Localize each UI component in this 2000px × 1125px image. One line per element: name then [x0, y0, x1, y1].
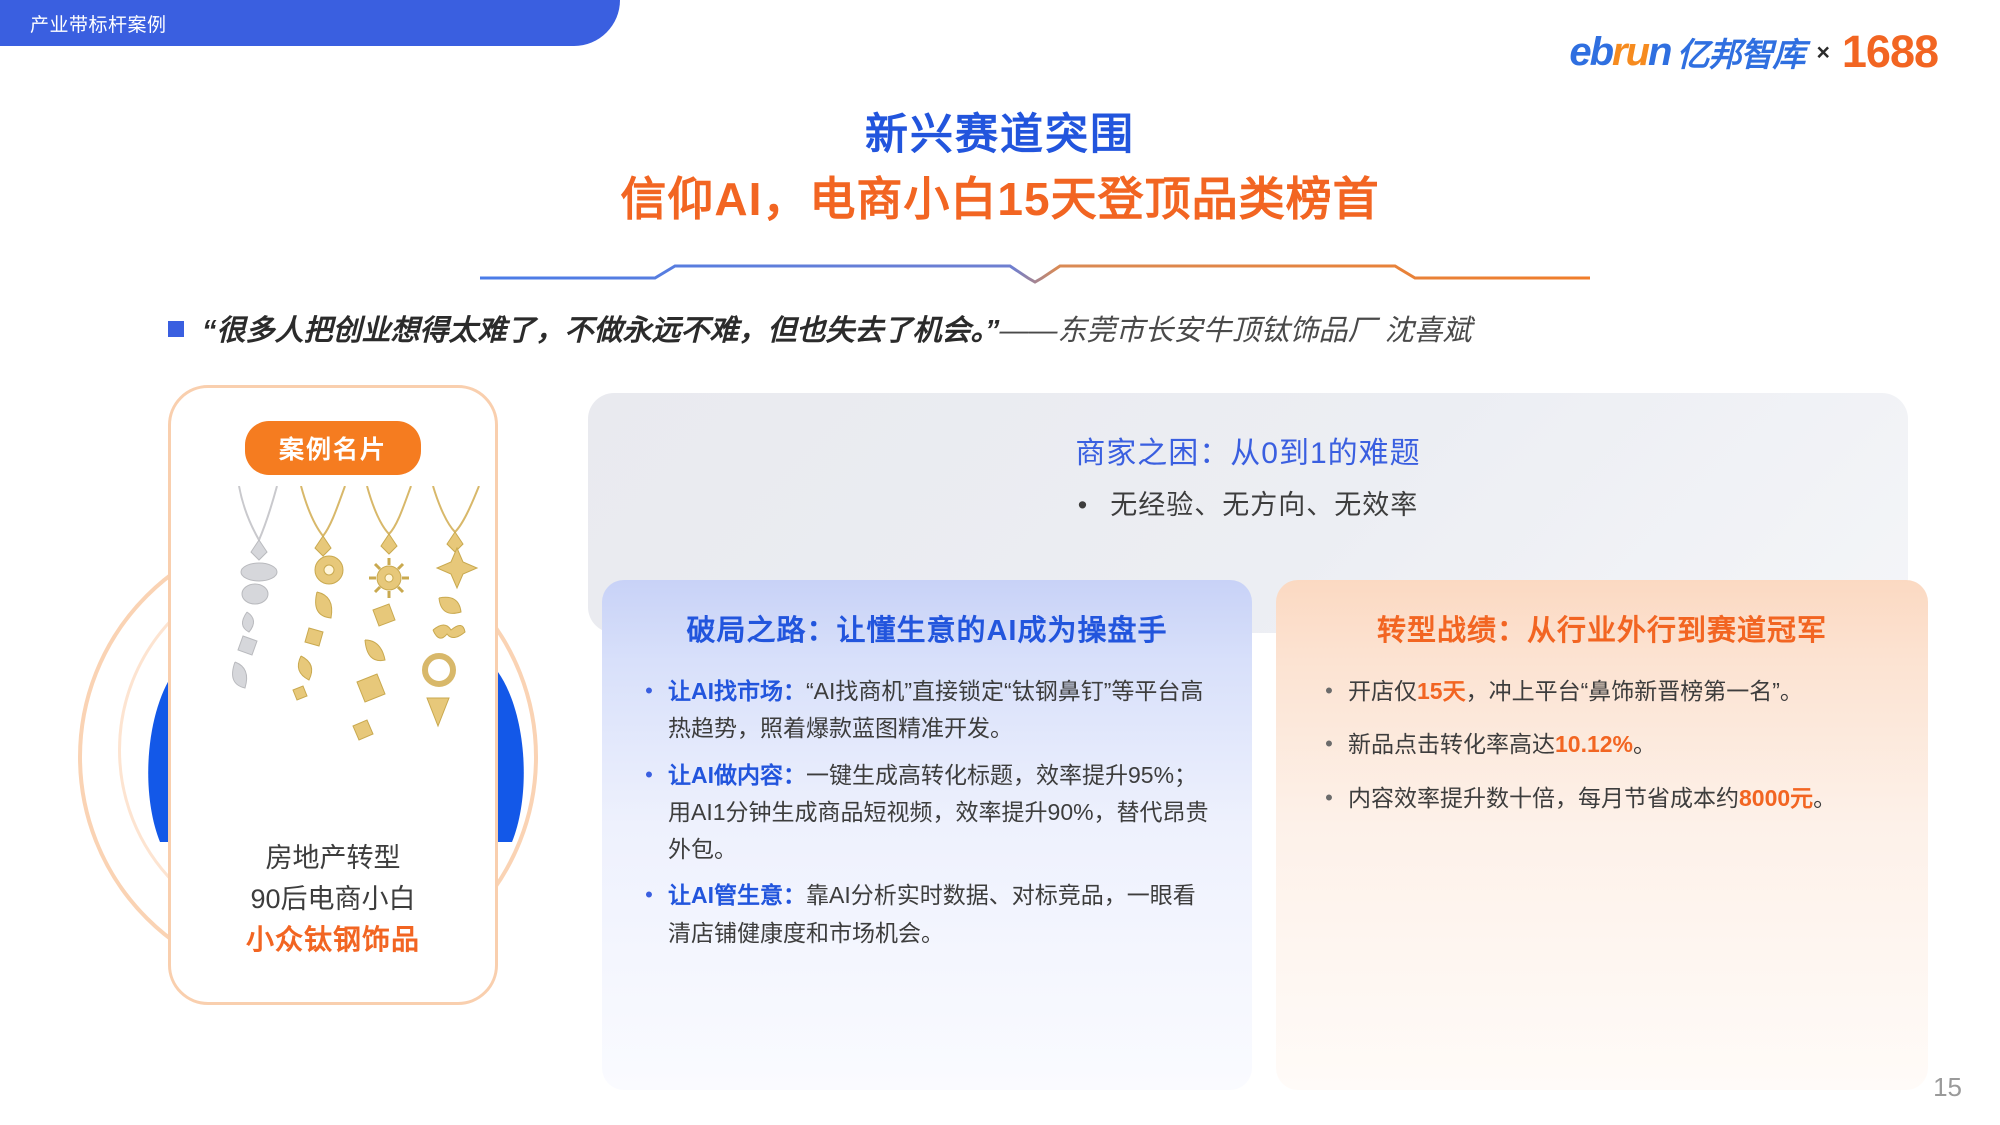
- title-divider: [480, 258, 1590, 284]
- list-item-text: 让AI做内容：一键生成高转化标题，效率提升95%；用AI1分钟生成商品短视频，效…: [668, 757, 1218, 869]
- results-panel-list: • 开店仅15天，冲上平台“鼻饰新晋榜第一名”。 • 新品点击转化率高达10.1…: [1276, 673, 1928, 817]
- quote-text: “很多人把创业想得太难了，不做永远不难，但也失去了机会。”: [202, 315, 1000, 347]
- ebrun-wordmark: ebrun: [1569, 30, 1670, 75]
- case-card: 案例名片: [168, 385, 498, 1005]
- page-title-sub: 信仰AI，电商小白15天登顶品类榜首: [0, 168, 2000, 230]
- decorative-blue-wing-right: [498, 672, 534, 847]
- bullet-dot-icon: •: [630, 877, 668, 913]
- bullet-dot-icon: •: [630, 757, 668, 793]
- ebrun-letter-b: b: [1590, 30, 1612, 74]
- ebrun-letter-n: n: [1648, 30, 1670, 74]
- problem-panel-bullet: •无经验、无方向、无效率: [588, 483, 1908, 522]
- bullet-dot-icon: •: [1078, 490, 1088, 520]
- solution-panel: 破局之路：让懂生意的AI成为操盘手 • 让AI找市场：“AI找商机”直接锁定“钛…: [602, 580, 1252, 1090]
- problem-panel-title: 商家之困：从0到1的难题: [588, 428, 1908, 472]
- partner-logo-1688: 1688: [1842, 26, 1938, 78]
- problem-panel-bullet-text: 无经验、无方向、无效率: [1110, 490, 1418, 520]
- list-item-post: 。: [1813, 785, 1836, 811]
- page-title-main: 新兴赛道突围: [0, 108, 2000, 164]
- necklace-product-image: [181, 486, 491, 836]
- necklace-illustration: [181, 486, 491, 836]
- list-item-post: 。: [1633, 731, 1656, 757]
- ebrun-letter-u: u: [1626, 30, 1648, 74]
- list-item-highlight: 15天: [1417, 678, 1466, 704]
- section-ribbon: 产业带标杆案例: [0, 0, 620, 46]
- list-item-key: 让AI做内容：: [668, 762, 806, 788]
- divider-graphic: [480, 258, 1590, 284]
- case-caption-line-1: 房地产转型: [171, 838, 495, 879]
- list-item: • 让AI管生意：靠AI分析实时数据、对标竞品，一眼看清店铺健康度和市场机会。: [630, 877, 1218, 952]
- list-item-key: 让AI找市场：: [668, 678, 806, 704]
- quote-text-container: “很多人把创业想得太难了，不做永远不难，但也失去了机会。”——东莞市长安牛顶钛饰…: [202, 307, 1472, 349]
- list-item: • 开店仅15天，冲上平台“鼻饰新晋榜第一名”。: [1310, 673, 1894, 710]
- bullet-dot-icon: •: [1310, 726, 1348, 762]
- case-card-badge: 案例名片: [245, 421, 421, 475]
- case-caption-line-2: 90后电商小白: [171, 879, 495, 920]
- multiply-icon: ×: [1816, 39, 1829, 66]
- ribbon-label: 产业带标杆案例: [30, 10, 167, 37]
- list-item: • 让AI做内容：一键生成高转化标题，效率提升95%；用AI1分钟生成商品短视频…: [630, 757, 1218, 869]
- results-panel: 转型战绩：从行业外行到赛道冠军 • 开店仅15天，冲上平台“鼻饰新晋榜第一名”。…: [1276, 580, 1928, 1090]
- brand-logo: ebrun 亿邦智库 × 1688: [1569, 26, 1938, 78]
- list-item-highlight: 8000元: [1739, 785, 1813, 811]
- list-item-text: 让AI管生意：靠AI分析实时数据、对标竞品，一眼看清店铺健康度和市场机会。: [668, 877, 1218, 952]
- results-panel-heading: 转型战绩：从行业外行到赛道冠军: [1276, 580, 1928, 649]
- list-item-pre: 内容效率提升数十倍，每月节省成本约: [1348, 785, 1739, 811]
- list-item-text: 新品点击转化率高达10.12%。: [1348, 726, 1894, 763]
- square-bullet-icon: [168, 321, 184, 337]
- ebrun-letter-e: e: [1569, 30, 1589, 74]
- list-item-key: 让AI管生意：: [668, 882, 806, 908]
- list-item-highlight: 10.12%: [1555, 731, 1633, 757]
- bullet-dot-icon: •: [1310, 780, 1348, 816]
- list-item-text: 开店仅15天，冲上平台“鼻饰新晋榜第一名”。: [1348, 673, 1894, 710]
- bullet-dot-icon: •: [630, 673, 668, 709]
- list-item-post: ，冲上平台“鼻饰新晋榜第一名”。: [1466, 678, 1803, 704]
- ebrun-letter-r: r: [1612, 30, 1626, 74]
- list-item-pre: 新品点击转化率高达: [1348, 731, 1555, 757]
- bullet-dot-icon: •: [1310, 673, 1348, 709]
- quote-attribution: ——东莞市长安牛顶钛饰品厂 沈喜斌: [1000, 315, 1472, 347]
- ebrun-chinese-name: 亿邦智库: [1676, 28, 1804, 76]
- list-item: • 内容效率提升数十倍，每月节省成本约8000元。: [1310, 780, 1894, 817]
- case-card-caption: 房地产转型 90后电商小白 小众钛钢饰品: [171, 838, 495, 961]
- case-caption-line-3: 小众钛钢饰品: [171, 919, 495, 961]
- list-item-pre: 开店仅: [1348, 678, 1417, 704]
- solution-panel-heading: 破局之路：让懂生意的AI成为操盘手: [602, 580, 1252, 649]
- list-item: • 让AI找市场：“AI找商机”直接锁定“钛钢鼻钉”等平台高热趋势，照着爆款蓝图…: [630, 673, 1218, 748]
- page-number: 15: [1933, 1072, 1962, 1103]
- title-block: 新兴赛道突围 信仰AI，电商小白15天登顶品类榜首: [0, 108, 2000, 230]
- list-item-text: 内容效率提升数十倍，每月节省成本约8000元。: [1348, 780, 1894, 817]
- list-item: • 新品点击转化率高达10.12%。: [1310, 726, 1894, 763]
- solution-panel-list: • 让AI找市场：“AI找商机”直接锁定“钛钢鼻钉”等平台高热趋势，照着爆款蓝图…: [602, 673, 1252, 952]
- quote-row: “很多人把创业想得太难了，不做永远不难，但也失去了机会。”——东莞市长安牛顶钛饰…: [168, 307, 1472, 349]
- list-item-text: 让AI找市场：“AI找商机”直接锁定“钛钢鼻钉”等平台高热趋势，照着爆款蓝图精准…: [668, 673, 1218, 748]
